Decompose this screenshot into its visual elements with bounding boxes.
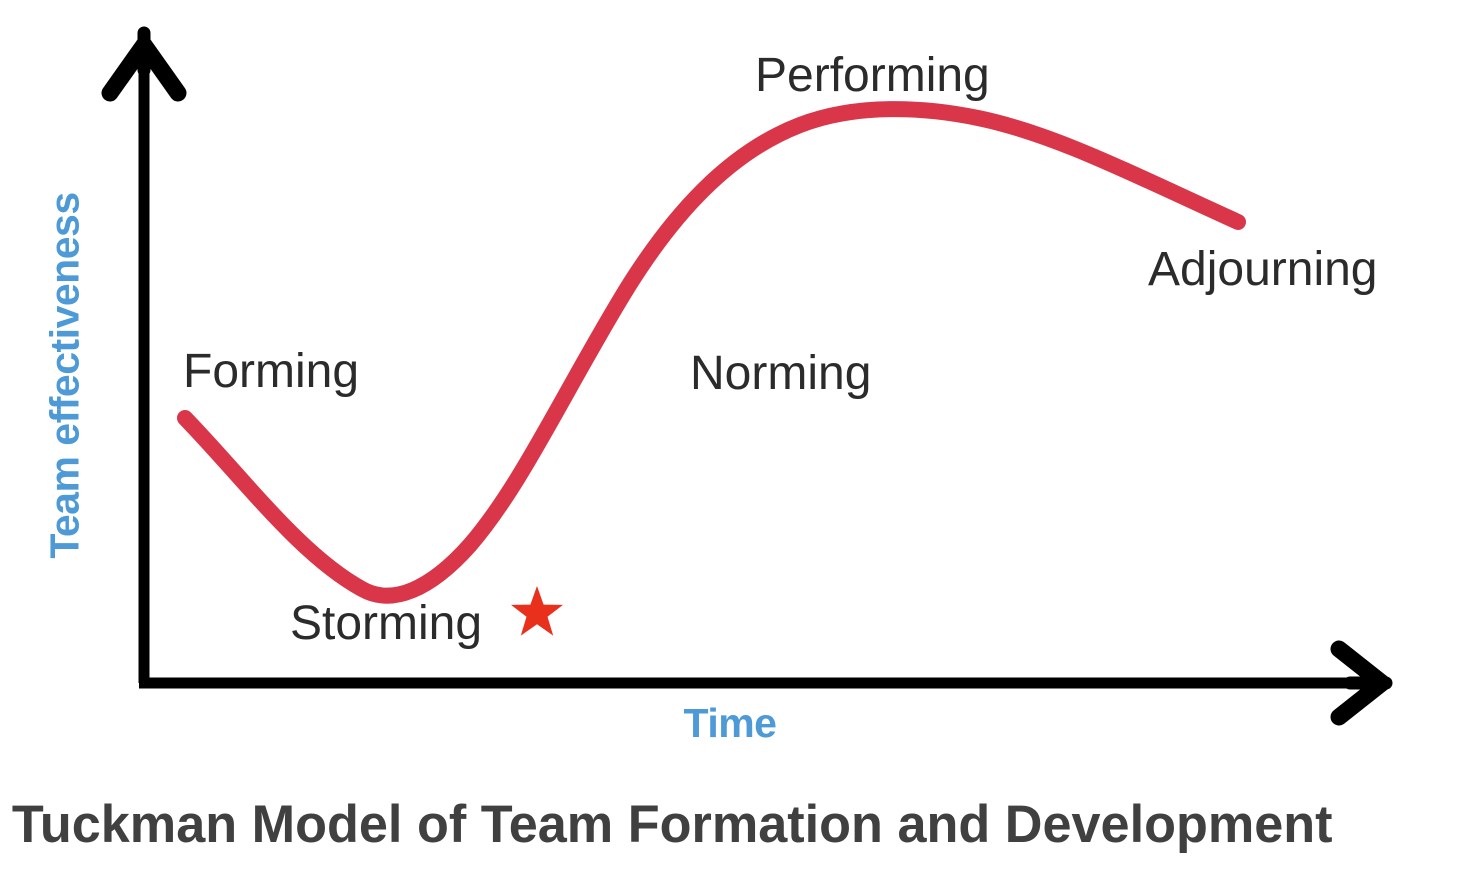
stage-label-storming: Storming <box>290 600 482 648</box>
tuckman-model-figure: Team effectiveness Time Forming Storming… <box>0 0 1466 888</box>
x-axis-title: Time <box>630 703 830 744</box>
figure-caption: Tuckman Model of Team Formation and Deve… <box>0 795 1444 854</box>
stage-label-performing: Performing <box>755 52 990 100</box>
y-axis-title: Team effectiveness <box>45 166 86 586</box>
stage-label-norming: Norming <box>690 350 871 398</box>
chart-plot-area: Team effectiveness Time Forming Storming… <box>0 0 1466 780</box>
star-shape <box>511 586 563 636</box>
red-star-icon <box>511 585 563 637</box>
stage-label-adjourning: Adjourning <box>1148 246 1378 294</box>
stage-label-forming: Forming <box>183 348 359 396</box>
